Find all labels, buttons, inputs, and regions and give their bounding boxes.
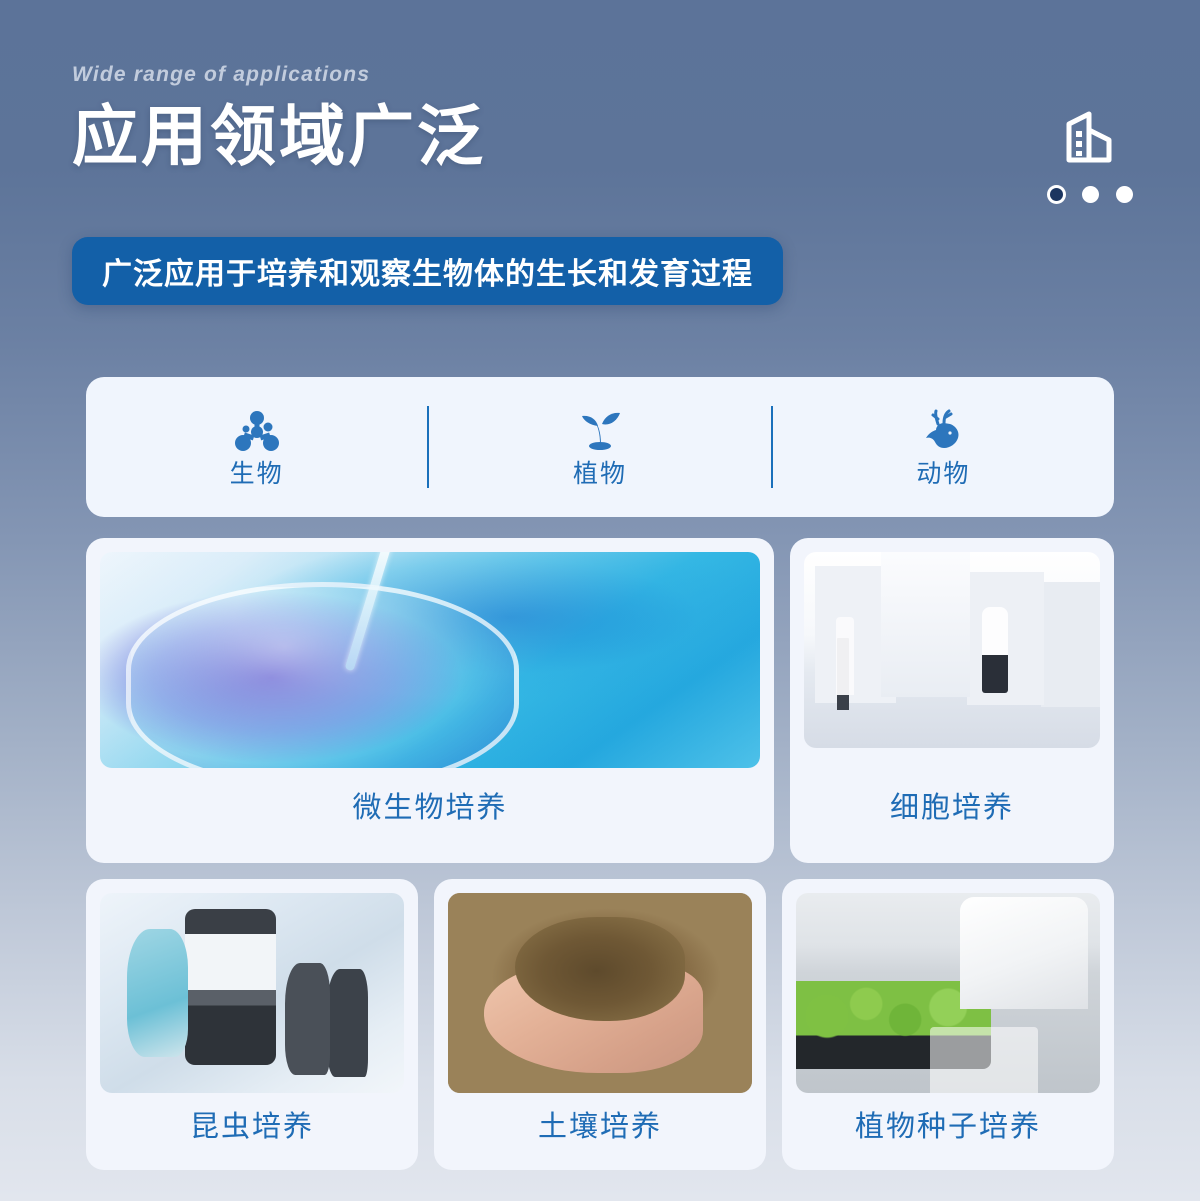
card-label-soil-culture: 土壤培养	[538, 1093, 662, 1156]
card-label-insect-culture: 昆虫培养	[190, 1093, 314, 1156]
category-item-plant[interactable]: 植物	[429, 408, 770, 487]
application-fields-page: Wide range of applications 应用领域广泛	[0, 0, 1200, 1201]
carousel-dot-3[interactable]	[1116, 186, 1133, 203]
card-row-2: 昆虫培养 土壤培养 植物种子培养	[86, 879, 1114, 1170]
card-image-insect-culture	[100, 893, 404, 1093]
subtitle-banner-text: 广泛应用于培养和观察生物体的生长和发育过程	[102, 249, 753, 293]
page-header: Wide range of applications 应用领域广泛	[72, 62, 1132, 172]
card-soil-culture[interactable]: 土壤培养	[434, 879, 766, 1170]
carousel-dot-1[interactable]	[1050, 188, 1063, 201]
carousel-dots[interactable]	[1048, 186, 1133, 203]
category-label-biology: 生物	[230, 462, 284, 487]
category-strip: 生物 植物	[86, 377, 1114, 517]
card-image-microbe-culture	[100, 552, 760, 768]
card-label-cell-culture: 细胞培养	[890, 768, 1014, 849]
category-item-biology[interactable]: 生物	[86, 408, 427, 487]
card-insect-culture[interactable]: 昆虫培养	[86, 879, 418, 1170]
card-label-plant-seed-culture: 植物种子培养	[855, 1093, 1041, 1156]
card-image-soil-culture	[448, 893, 752, 1093]
sprout-icon	[574, 408, 626, 454]
category-item-animal[interactable]: 动物	[773, 408, 1114, 487]
card-microbe-culture[interactable]: 微生物培养	[86, 538, 774, 863]
brand-mark	[1035, 106, 1145, 203]
subtitle-banner: 广泛应用于培养和观察生物体的生长和发育过程	[72, 237, 783, 305]
card-image-cell-culture	[804, 552, 1100, 748]
microbe-icon	[234, 408, 280, 454]
card-image-plant-seed-culture	[796, 893, 1100, 1093]
category-label-animal: 动物	[916, 462, 970, 487]
card-label-microbe-culture: 微生物培养	[352, 768, 507, 849]
building-icon	[1059, 106, 1121, 168]
card-plant-seed-culture[interactable]: 植物种子培养	[782, 879, 1114, 1170]
carousel-dot-2[interactable]	[1082, 186, 1099, 203]
page-eyebrow: Wide range of applications	[72, 62, 1132, 87]
category-label-plant: 植物	[573, 462, 627, 487]
deer-head-icon	[920, 408, 966, 454]
card-row-1: 微生物培养 细胞培养	[86, 538, 1114, 863]
card-cell-culture[interactable]: 细胞培养	[790, 538, 1114, 863]
page-title: 应用领域广泛	[72, 101, 1132, 172]
application-card-grid: 微生物培养 细胞培养 昆虫培养 土壤培养	[86, 538, 1114, 1186]
